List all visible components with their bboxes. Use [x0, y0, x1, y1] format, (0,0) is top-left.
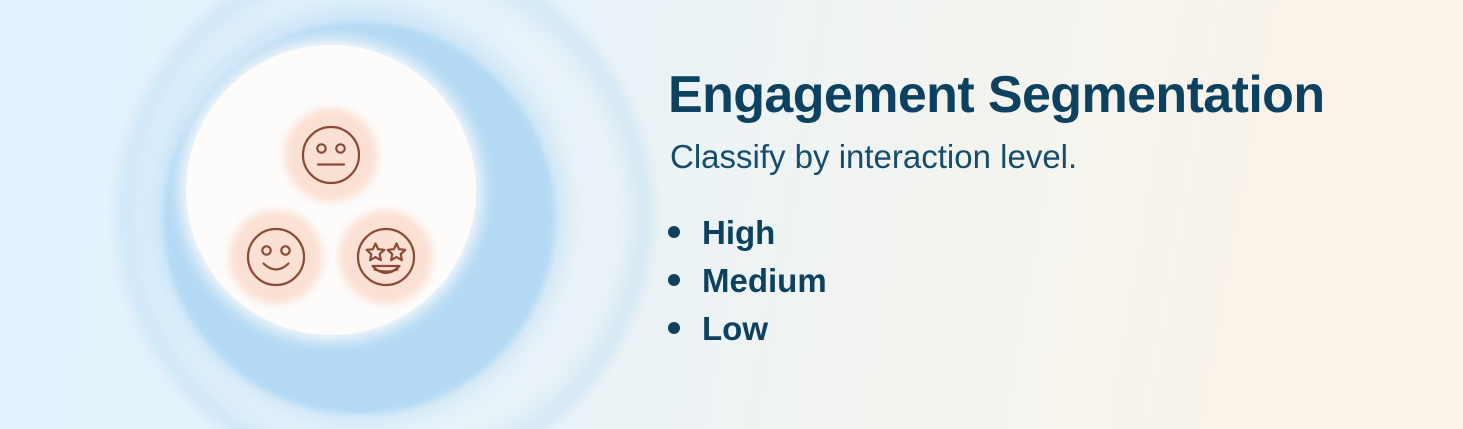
segment-label-high: High: [702, 216, 775, 249]
engagement-segmentation-banner: Engagement Segmentation Classify by inte…: [0, 0, 1463, 429]
bullet-dot-icon: [668, 322, 680, 334]
illustration: [0, 0, 640, 429]
list-item: Low: [668, 304, 827, 352]
page-subtitle: Classify by interaction level.: [670, 137, 1077, 177]
page-title: Engagement Segmentation: [668, 66, 1325, 124]
bullet-dot-icon: [668, 274, 680, 286]
smiley-face-icon: [237, 218, 315, 296]
bullet-dot-icon: [668, 226, 680, 238]
segment-label-low: Low: [702, 312, 768, 345]
list-item: Medium: [668, 256, 827, 304]
neutral-face-icon: [292, 116, 370, 194]
star-struck-face-icon: [347, 218, 425, 296]
segment-list: High Medium Low: [668, 208, 827, 352]
segment-label-medium: Medium: [702, 264, 827, 297]
list-item: High: [668, 208, 827, 256]
text-content: Engagement Segmentation Classify by inte…: [668, 0, 1408, 429]
